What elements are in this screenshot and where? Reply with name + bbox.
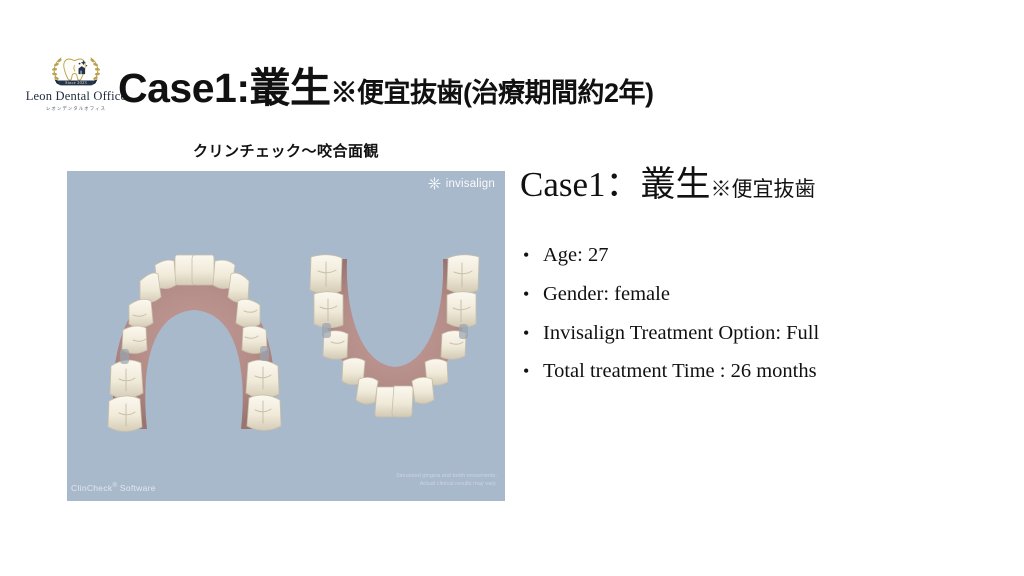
clincheck-software-label: ClinCheck® Software: [71, 483, 156, 493]
disclaimer-line-2: Actual clinical results may vary.: [396, 480, 497, 489]
brand-logo: Since 2023 Leon Dental Office レオンデンタルオフィ…: [26, 50, 126, 112]
clincheck-word: ClinCheck: [71, 483, 112, 493]
page-title-note: ※便宜抜歯(治療期間約2年): [330, 78, 653, 108]
logo-name: Leon Dental Office: [26, 89, 127, 104]
case-detail-list: Age: 27 Gender: female Invisalign Treatm…: [520, 236, 990, 391]
case-heading-main: Case1：叢生: [520, 165, 711, 204]
image-caption: クリンチェック〜咬合面観: [67, 140, 505, 161]
disclaimer-line-1: Simulated gingiva and tooth movements.: [396, 472, 497, 481]
upper-arch-occlusal-view: [85, 233, 303, 433]
page-title: Case1:叢生※便宜抜歯(治療期間約2年): [118, 60, 878, 116]
page-title-main: Case1:叢生: [118, 65, 330, 111]
list-item: Total treatment Time : 26 months: [520, 352, 990, 391]
registered-mark: ®: [112, 483, 117, 489]
invisalign-wordmark: invisalign: [446, 178, 495, 190]
list-item: Invisalign Treatment Option: Full: [520, 314, 990, 353]
simulation-disclaimer: Simulated gingiva and tooth movements. A…: [396, 472, 497, 489]
case-heading-note: ※便宜抜歯: [711, 177, 816, 201]
invisalign-watermark: invisalign: [428, 177, 495, 190]
logo-banner-text: Since 2023: [65, 80, 87, 85]
logo-subtitle: レオンデンタルオフィス: [46, 106, 106, 112]
list-item: Age: 27: [520, 236, 990, 275]
clincheck-image-panel: invisalign ClinCheck® Software Simulated…: [67, 171, 505, 501]
software-word: Software: [120, 483, 156, 493]
case-heading: Case1：叢生※便宜抜歯: [520, 163, 990, 211]
lower-arch-occlusal-view: [295, 253, 495, 433]
list-item: Gender: female: [520, 275, 990, 314]
tooth-laurel-emblem-icon: Since 2023: [45, 50, 107, 88]
invisalign-starburst-icon: [428, 177, 441, 190]
